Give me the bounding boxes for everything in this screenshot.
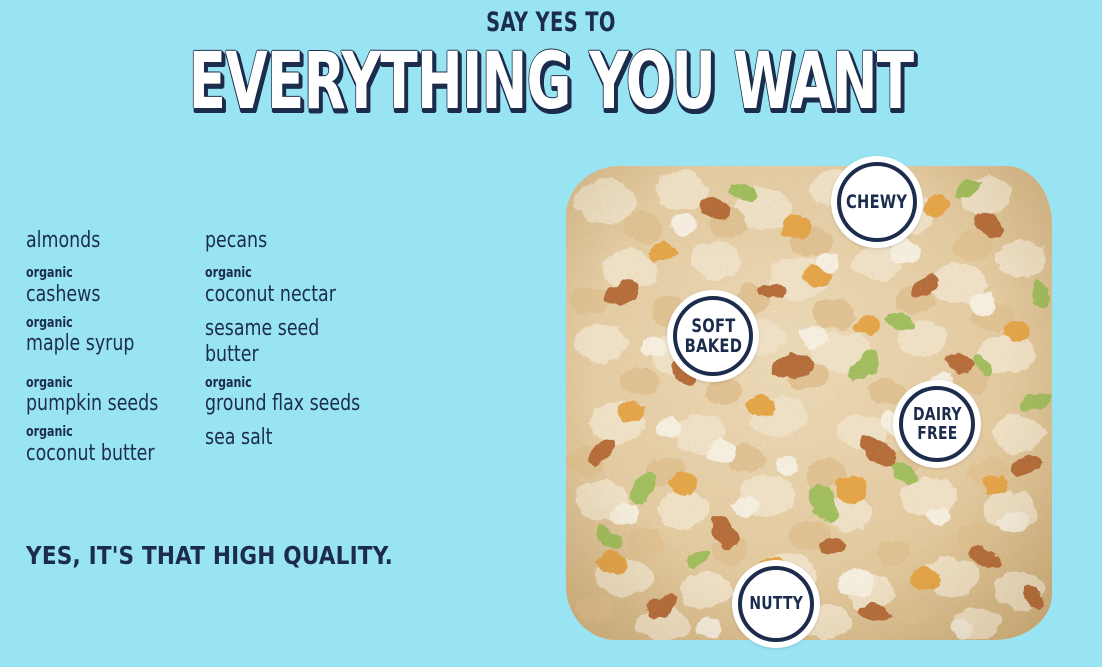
ingredient-item: sea salt (205, 425, 446, 467)
ingredient-item: organic pumpkin seeds (26, 376, 205, 418)
ingredient-item: organic cashews (26, 266, 205, 308)
badge-label: CHEWY (846, 192, 907, 212)
organic-label: organic (26, 425, 184, 441)
page-title: EVERYTHING YOU WANT (121, 43, 981, 121)
organic-label: organic (26, 266, 184, 282)
ingredient-name: maple syrup (26, 331, 184, 357)
ingredient-item: organic ground flax seeds (205, 376, 446, 418)
granola-bar-image (566, 166, 1052, 640)
badge-label-line1: SOFT (691, 315, 735, 337)
organic-label: organic (26, 316, 184, 332)
promo-banner: SAY YES TO EVERYTHING YOU WANT almonds p… (0, 0, 1102, 667)
badge-label: NUTTY (749, 594, 803, 613)
organic-label: organic (205, 376, 417, 392)
ingredient-name: cashews (26, 282, 184, 308)
ingredient-item: organic maple syrup (26, 316, 205, 368)
ingredient-list: almonds pecans organic cashews organic c… (26, 228, 446, 475)
badge-dairy-free[interactable]: DAIRY FREE (893, 380, 981, 468)
ingredient-name: ground flax seeds (205, 391, 417, 417)
ingredient-item: organic coconut butter (26, 425, 205, 467)
organic-label: organic (26, 376, 184, 392)
ingredient-item: organic coconut nectar (205, 266, 446, 308)
badge-soft-baked[interactable]: SOFT BAKED (667, 290, 759, 382)
product-photo: CHEWY SOFT BAKED DAIRY FREE NUTTY (566, 166, 1052, 640)
organic-label: organic (205, 266, 417, 282)
ingredient-name: pumpkin seeds (26, 391, 184, 417)
badge-label-line2: BAKED (684, 335, 742, 357)
ingredient-name: sesame seed butter (205, 316, 337, 368)
ingredient-name: pecans (205, 228, 417, 254)
ingredient-name: coconut butter (26, 441, 184, 467)
badge-label-line1: DAIRY (913, 404, 962, 425)
badge-label-line2: FREE (917, 423, 957, 444)
ingredient-item: almonds (26, 228, 205, 258)
ingredient-item: pecans (205, 228, 446, 258)
ingredient-name: sea salt (205, 425, 417, 451)
ingredient-name: coconut nectar (205, 282, 417, 308)
badge-chewy[interactable]: CHEWY (831, 156, 923, 248)
badge-label: SOFT BAKED (684, 316, 742, 356)
badge-label: DAIRY FREE (913, 405, 962, 443)
kicker-text: SAY YES TO (110, 9, 992, 37)
tagline: YES, IT'S THAT HIGH QUALITY. (26, 541, 393, 570)
ingredient-name: almonds (26, 228, 184, 254)
ingredient-item: sesame seed butter (205, 316, 446, 368)
badge-nutty[interactable]: NUTTY (732, 560, 820, 648)
